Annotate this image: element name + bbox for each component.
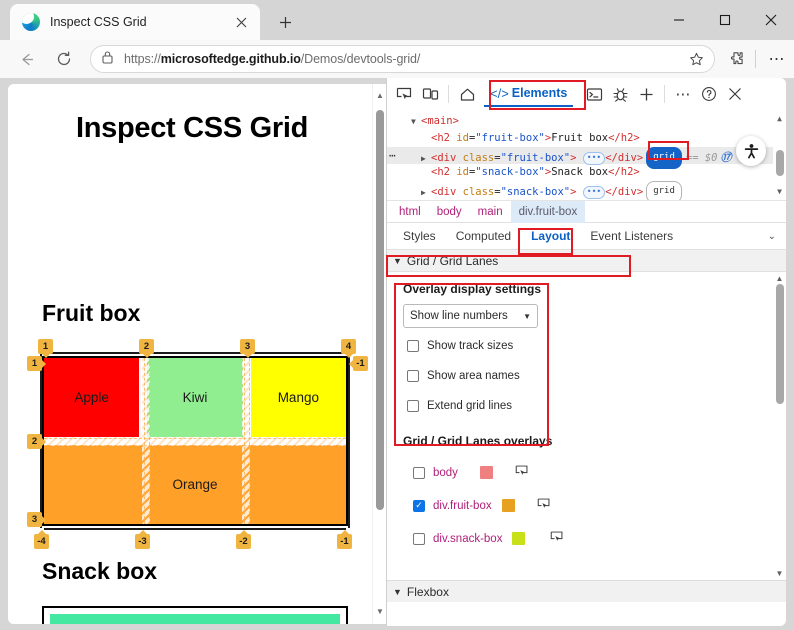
grid-col-label-neg3: -3 [135,534,150,549]
grid-col-label-neg1: -1 [337,534,352,549]
browser-settings-icon[interactable]: ⋯ [760,44,794,74]
snack-box-grid: Seaweed [42,606,348,624]
star-icon[interactable] [684,52,708,67]
overlay-row-div-snack-box[interactable]: div.snack-box [413,530,564,547]
page-scrollbar-thumb[interactable] [376,110,384,510]
grid-cell-orange: Orange [44,445,346,524]
url-text: https://microsoftedge.github.io/Demos/de… [124,52,684,66]
device-emulation-icon[interactable] [417,81,443,107]
tab-event-listeners[interactable]: Event Listeners [580,223,683,249]
back-button-icon[interactable] [10,43,42,75]
grid-line-v2 [149,358,150,524]
layout-scroll-down-icon[interactable]: ▼ [773,567,786,580]
section-flexbox[interactable]: ▼ Flexbox [387,580,786,602]
dom-row-main[interactable]: ▼<main> [387,113,786,130]
chevron-down-icon-select: ▼ [523,312,531,321]
grid-cell-mango: Mango [251,358,346,437]
overlay-row-body[interactable]: body [413,464,529,481]
collapsed-children-icon-2[interactable]: ••• [583,186,605,199]
layout-panel-scrollbar[interactable]: ▲ ▼ [773,272,786,580]
overlay-color-swatch-body[interactable] [480,466,493,479]
grid-line-v4 [249,358,250,524]
grid-row-label-neg1-top: -1 [353,356,368,371]
expand-triangle-icon[interactable]: ▼ [411,113,421,130]
tab-layout[interactable]: Layout [521,223,580,249]
dom-scroll-down-icon[interactable]: ▼ [773,185,786,198]
checkbox-show-track-sizes[interactable]: Show track sizes [407,340,513,352]
checkbox-box[interactable] [407,400,419,412]
checkbox-label: Show track sizes [427,340,513,352]
dom-scroll-up-icon[interactable]: ▲ [773,112,786,125]
web-page-content: Inspect CSS Grid Fruit box Apple Kiwi Ma… [8,84,376,624]
row-actions-icon[interactable]: ⋯ [389,147,396,164]
devtools-toolbar: </> Elements ⋯ [387,78,786,110]
tab-elements-label: Elements [512,86,568,100]
grid-cell-apple: Apple [44,358,139,437]
close-window-button[interactable] [748,0,794,40]
breadcrumb-item-main[interactable]: main [470,201,511,223]
checkbox-show-area-names[interactable]: Show area names [407,370,520,382]
overlay-display-settings-title: Overlay display settings [403,282,541,296]
tab-elements[interactable]: </> Elements [484,81,573,107]
grid-col-label-1: 1 [38,339,53,354]
checkbox-box[interactable] [407,370,419,382]
dom-tree: ▼<main> <h2 id="fruit-box">Fruit box</h2… [387,110,786,200]
code-icon: </> [490,86,509,101]
breadcrumb-item-body[interactable]: body [429,201,470,223]
layout-scrollbar-thumb[interactable] [776,284,784,404]
breadcrumb-item-html[interactable]: html [391,201,429,223]
overlays-title: Grid / Grid Lanes overlays [403,434,552,448]
dom-row-div-fruit-box[interactable]: ⋯ ▶<div class="fruit-box"> •••</div>grid… [387,147,786,164]
layout-panel-body: Overlay display settings Show line numbe… [387,272,786,602]
dom-tree-scrollbar[interactable]: ▲ ▼ [773,110,786,200]
bug-icon[interactable] [607,81,633,107]
console-icon[interactable] [581,81,607,107]
new-tab-button[interactable] [272,9,298,35]
flexbox-editor-icon[interactable]: ⑰ [720,151,731,164]
snack-box-heading: Snack box [42,558,157,585]
scroll-down-arrow-icon[interactable]: ▼ [373,604,386,618]
grid-col-label-neg4: -4 [34,534,49,549]
maximize-button[interactable] [702,0,748,40]
help-icon[interactable] [696,81,722,107]
puzzle-icon[interactable] [721,44,751,74]
grid-row-label-3: 3 [27,512,42,527]
checkbox-label: Show area names [427,370,520,382]
section-grid-label: Grid / Grid Lanes [407,254,498,268]
overlay-name-div-snack-box: div.snack-box [433,533,502,545]
checkbox-box[interactable] [407,340,419,352]
section-grid-grid-lanes[interactable]: ▼ Grid / Grid Lanes [387,250,786,272]
grid-line-v1 [144,358,145,524]
overlay-checkbox-body[interactable] [413,467,425,479]
section-expand-triangle-icon[interactable]: ▼ [393,256,402,266]
tab-styles[interactable]: Styles [393,223,446,249]
grid-row-label-2: 2 [27,434,42,449]
collapse-triangle-icon-2[interactable]: ▶ [421,184,431,200]
reload-button-icon[interactable] [48,43,80,75]
toolbar-divider [448,85,449,103]
home-icon[interactable] [454,81,480,107]
overlay-row-div-fruit-box[interactable]: div.fruit-box [413,497,551,514]
dom-scrollbar-thumb[interactable] [776,150,784,176]
tab-close-icon[interactable] [230,11,252,33]
breadcrumb-item-div-fruit-box[interactable]: div.fruit-box [511,201,586,223]
checkbox-extend-grid-lines[interactable]: Extend grid lines [407,400,512,412]
lock-icon [101,50,117,69]
toolbar-divider-2 [664,85,665,103]
minimize-button[interactable] [656,0,702,40]
overlay-select-element-icon-div-snack-box[interactable] [550,530,564,547]
grid-line-v3 [244,358,245,524]
grid-line-h2 [44,445,346,446]
close-devtools-icon[interactable] [722,81,748,107]
page-title: Inspect CSS Grid [8,112,376,145]
overlay-checkbox-div-snack-box[interactable] [413,533,425,545]
grid-row-label-1: 1 [27,356,42,371]
collapsed-children-icon[interactable]: ••• [583,152,605,165]
tab-computed[interactable]: Computed [446,223,521,249]
grid-badge-snack-box[interactable]: grid [646,181,682,200]
fruit-box-heading: Fruit box [42,300,140,327]
address-bar[interactable]: https://microsoftedge.github.io/Demos/de… [90,45,715,73]
dom-row-div-snack-box[interactable]: ▶<div class="snack-box"> •••</div>grid [387,181,786,198]
grid-col-label-4: 4 [341,339,356,354]
overlay-color-swatch-div-snack-box[interactable] [512,532,525,545]
line-labels-select-value: Show line numbers [410,310,508,322]
grid-col-label-neg2: -2 [236,534,251,549]
overlay-name-div-fruit-box: div.fruit-box [433,500,492,512]
devtools-panel: </> Elements ⋯ ▼<main> [386,78,786,626]
grid-edge-top [44,352,346,354]
scroll-up-arrow-icon[interactable]: ▲ [373,88,386,102]
grid-edge-right [348,354,350,528]
console-ref-label: == $0 [686,152,718,164]
tab-strip: Inspect CSS Grid [0,0,794,40]
breadcrumb: html body main div.fruit-box [387,200,786,222]
dom-row-h2-fruit[interactable]: <h2 id="fruit-box">Fruit box</h2> [387,130,786,147]
overlay-checkbox-div-fruit-box[interactable] [413,500,425,512]
grid-cell-kiwi: Kiwi [147,358,242,437]
page-scrollbar[interactable]: ▲ ▼ [372,84,386,624]
grid-cell-seaweed: Seaweed [50,614,340,624]
inspect-element-icon[interactable] [391,81,417,107]
navigation-toolbar: https://microsoftedge.github.io/Demos/de… [0,40,794,78]
overlay-name-body: body [433,467,458,479]
chevron-down-icon[interactable]: ⌄ [768,231,776,242]
overflow-menu-icon[interactable]: ⋯ [670,81,696,107]
fruit-box-grid: Apple Kiwi Mango Orange [42,356,348,526]
checkbox-label: Extend grid lines [427,400,512,412]
add-tool-icon[interactable] [633,81,659,107]
section-flexbox-label: Flexbox [407,585,449,599]
accessibility-icon[interactable] [736,136,766,166]
grid-col-label-3: 3 [240,339,255,354]
line-labels-select[interactable]: Show line numbers ▼ [403,304,538,328]
grid-line-h1 [44,438,346,439]
tab-title: Inspect CSS Grid [50,15,230,29]
overlay-select-element-icon-div-fruit-box[interactable] [537,497,551,514]
grid-col-label-2: 2 [139,339,154,354]
overlay-select-element-icon-body[interactable] [515,464,529,481]
page-viewport: Inspect CSS Grid Fruit box Apple Kiwi Ma… [8,84,386,624]
window-controls [656,0,794,40]
overlay-color-swatch-div-fruit-box[interactable] [502,499,515,512]
dom-row-h2-snack[interactable]: <h2 id="snack-box">Snack box</h2> [387,164,786,181]
toolbar-divider [755,50,756,68]
sidebar-tabs: Styles Computed Layout Event Listeners ⌄ [387,222,786,250]
grid-edge-bottom [44,528,346,530]
browser-tab[interactable]: Inspect CSS Grid [10,4,260,40]
browser-window: Inspect CSS Grid [0,0,794,630]
flexbox-expand-triangle-icon[interactable]: ▼ [393,587,402,597]
edge-logo-icon [22,13,40,31]
